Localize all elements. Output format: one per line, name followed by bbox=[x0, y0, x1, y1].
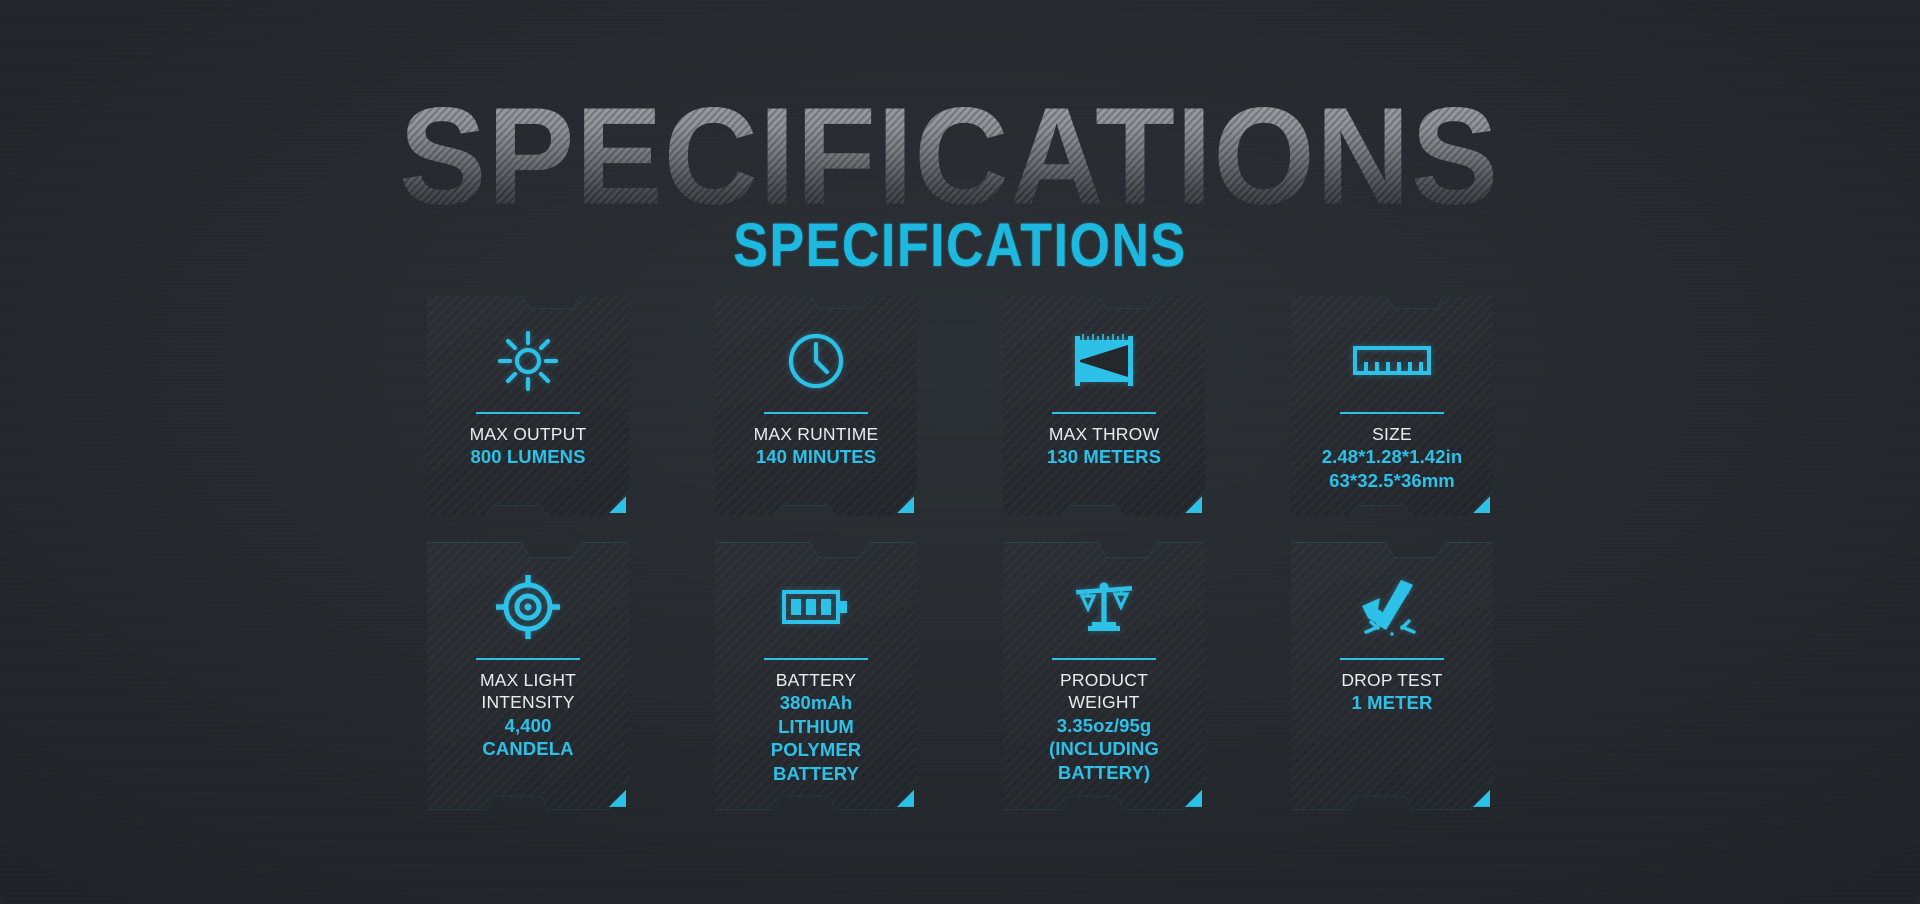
card-value: 2.48*1.28*1.42in 63*32.5*36mm bbox=[1322, 445, 1462, 492]
card-value: 380mAh LITHIUM POLYMER BATTERY bbox=[771, 691, 861, 786]
beam-throw-icon bbox=[1071, 322, 1137, 400]
card-divider bbox=[1052, 412, 1156, 414]
specifications-section: SPECIFICATIONS SPECIFICATIONS bbox=[0, 0, 1920, 904]
card-label: SIZE bbox=[1372, 423, 1412, 445]
page-title-ghost: SPECIFICATIONS bbox=[399, 88, 1499, 226]
page-title: SPECIFICATIONS bbox=[733, 215, 1186, 276]
card-divider bbox=[1340, 412, 1444, 414]
card-divider bbox=[476, 658, 580, 660]
clock-icon bbox=[786, 322, 846, 400]
card-value: 3.35oz/95g (INCLUDING BATTERY) bbox=[1049, 714, 1159, 785]
spec-card-max-throw[interactable]: MAX THROW 130 METERS bbox=[1003, 296, 1205, 516]
title-block: SPECIFICATIONS SPECIFICATIONS bbox=[0, 88, 1920, 228]
crosshair-target-icon bbox=[495, 568, 561, 646]
spec-card-battery[interactable]: BATTERY 380mAh LITHIUM POLYMER BATTERY bbox=[715, 542, 917, 810]
sun-icon bbox=[497, 322, 559, 400]
card-divider bbox=[764, 412, 868, 414]
card-value: 1 METER bbox=[1352, 691, 1433, 715]
card-divider bbox=[1340, 658, 1444, 660]
card-label: MAX OUTPUT bbox=[470, 423, 587, 445]
card-value: 140 MINUTES bbox=[756, 445, 876, 469]
card-label: MAX THROW bbox=[1049, 423, 1159, 445]
card-label: BATTERY bbox=[776, 669, 857, 691]
ruler-icon bbox=[1353, 322, 1431, 400]
spec-card-max-output[interactable]: MAX OUTPUT 800 LUMENS bbox=[427, 296, 629, 516]
card-label: MAX LIGHT INTENSITY bbox=[480, 669, 576, 714]
card-value: 800 LUMENS bbox=[470, 445, 585, 469]
specifications-grid: MAX OUTPUT 800 LUMENS bbox=[426, 296, 1494, 810]
drop-impact-icon bbox=[1356, 568, 1428, 646]
spec-card-size[interactable]: SIZE 2.48*1.28*1.42in 63*32.5*36mm bbox=[1291, 296, 1493, 516]
battery-icon bbox=[782, 568, 850, 646]
card-label: PRODUCT WEIGHT bbox=[1060, 669, 1148, 714]
card-value: 130 METERS bbox=[1047, 445, 1161, 469]
spec-card-max-light-intensity[interactable]: MAX LIGHT INTENSITY 4,400 CANDELA bbox=[427, 542, 629, 810]
card-divider bbox=[1052, 658, 1156, 660]
spec-card-max-runtime[interactable]: MAX RUNTIME 140 MINUTES bbox=[715, 296, 917, 516]
spec-card-drop-test[interactable]: DROP TEST 1 METER bbox=[1291, 542, 1493, 810]
scales-balance-icon bbox=[1070, 568, 1138, 646]
spec-card-product-weight[interactable]: PRODUCT WEIGHT 3.35oz/95g (INCLUDING BAT… bbox=[1003, 542, 1205, 810]
card-divider bbox=[764, 658, 868, 660]
card-value: 4,400 CANDELA bbox=[482, 714, 573, 761]
card-divider bbox=[476, 412, 580, 414]
card-label: DROP TEST bbox=[1341, 669, 1442, 691]
card-label: MAX RUNTIME bbox=[754, 423, 879, 445]
